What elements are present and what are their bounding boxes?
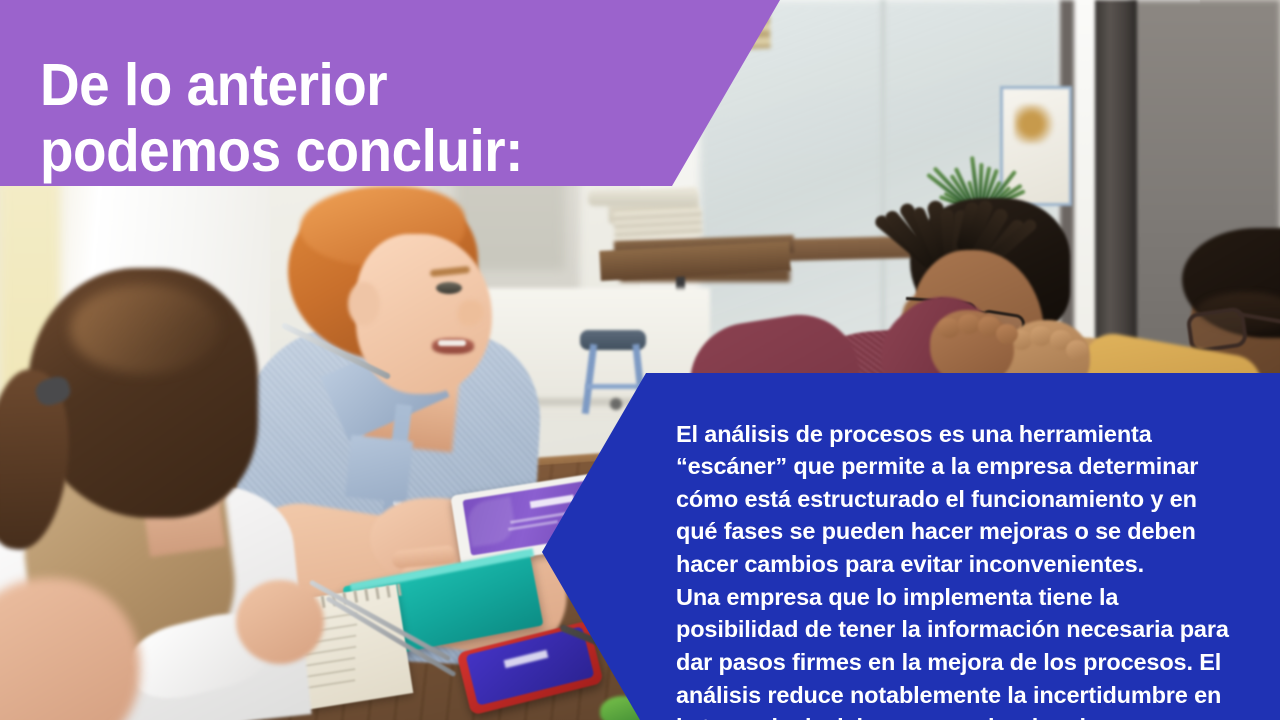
framed-picture-art bbox=[1014, 104, 1058, 144]
body-text-panel: El análisis de procesos es una herramien… bbox=[540, 370, 1280, 720]
presentation-slide: De lo anterior podemos concluir: El anál… bbox=[0, 0, 1280, 720]
title-banner: De lo anterior podemos concluir: bbox=[0, 0, 790, 190]
person-left-hand bbox=[236, 580, 324, 664]
person-left-hair-highlight bbox=[70, 284, 220, 374]
book-stack bbox=[613, 208, 702, 241]
stool-crossbar bbox=[586, 384, 642, 389]
body-paragraph: El análisis de procesos es una herramien… bbox=[676, 418, 1246, 720]
page-title: De lo anterior podemos concluir: bbox=[40, 52, 635, 184]
person-redhair-teeth bbox=[438, 340, 466, 346]
person-redhair-ear bbox=[348, 282, 380, 326]
stool-back-seat bbox=[588, 190, 698, 206]
person-redhair-pocket bbox=[345, 435, 413, 503]
cabinet-knob-left bbox=[610, 398, 622, 410]
person-redhair-eye bbox=[436, 282, 462, 294]
